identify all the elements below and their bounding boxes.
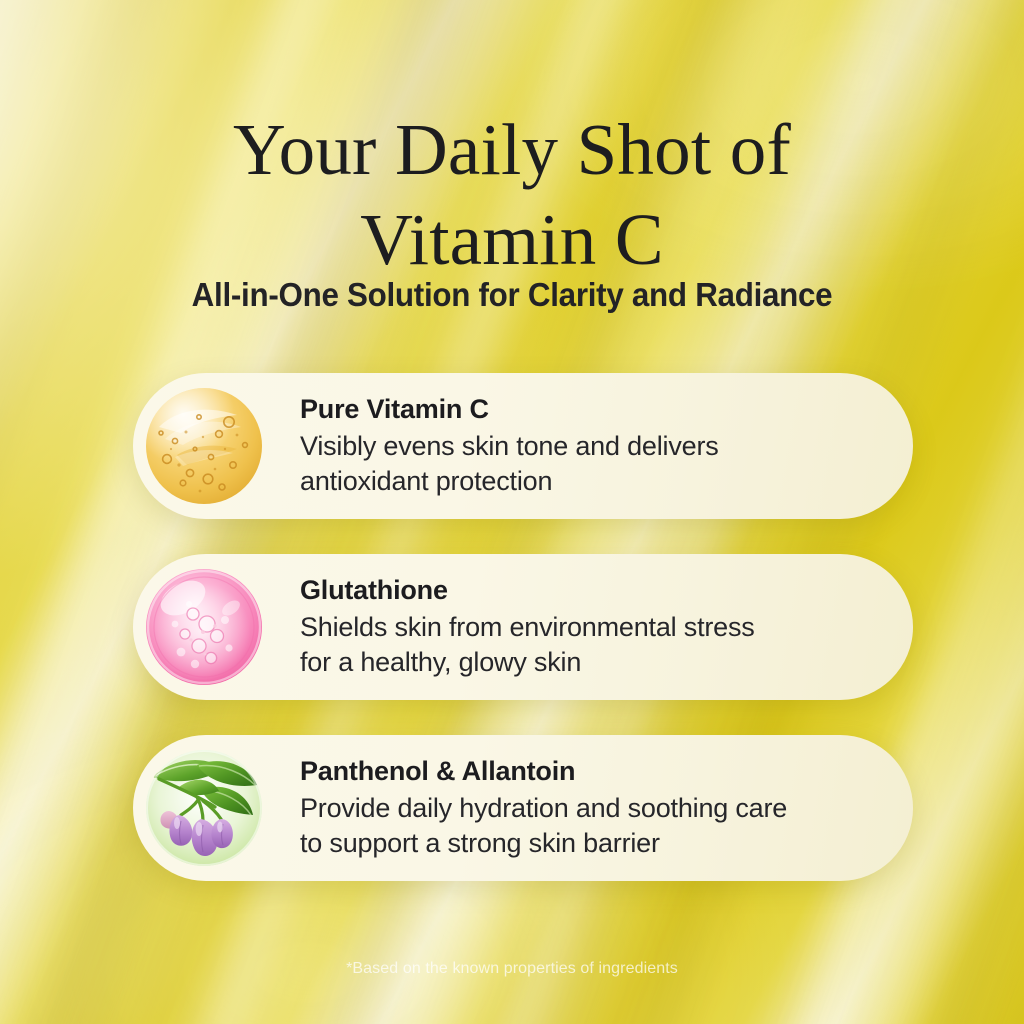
card-text-block: Pure Vitamin C Visibly evens skin tone a…	[263, 393, 913, 499]
benefit-card-list: Pure Vitamin C Visibly evens skin tone a…	[133, 373, 913, 881]
pink-glutathione-droplet-icon	[145, 568, 263, 686]
card-title: Glutathione	[300, 574, 885, 607]
headline: Your Daily Shot of Vitamin C	[0, 105, 1024, 285]
promo-graphic: Your Daily Shot of Vitamin C All-in-One …	[0, 0, 1024, 1024]
headline-line-2: Vitamin C	[0, 195, 1024, 285]
comfrey-plant-icon	[145, 749, 263, 867]
card-description: Shields skin from environmental stress f…	[300, 610, 885, 680]
benefit-card-pure-vitamin-c[interactable]: Pure Vitamin C Visibly evens skin tone a…	[133, 373, 913, 519]
card-text-block: Glutathione Shields skin from environmen…	[263, 574, 913, 680]
subtitle: All-in-One Solution for Clarity and Radi…	[26, 275, 999, 315]
disclaimer-footnote: *Based on the known properties of ingred…	[0, 958, 1024, 980]
card-description: Provide daily hydration and soothing car…	[300, 791, 885, 861]
golden-vitamin-c-gel-icon	[145, 387, 263, 505]
card-title: Pure Vitamin C	[300, 393, 885, 426]
headline-line-1: Your Daily Shot of	[0, 105, 1024, 195]
card-description: Visibly evens skin tone and delivers ant…	[300, 429, 885, 499]
benefit-card-panthenol-allantoin[interactable]: Panthenol & Allantoin Provide daily hydr…	[133, 735, 913, 881]
card-title: Panthenol & Allantoin	[300, 755, 885, 788]
card-text-block: Panthenol & Allantoin Provide daily hydr…	[263, 755, 913, 861]
benefit-card-glutathione[interactable]: Glutathione Shields skin from environmen…	[133, 554, 913, 700]
